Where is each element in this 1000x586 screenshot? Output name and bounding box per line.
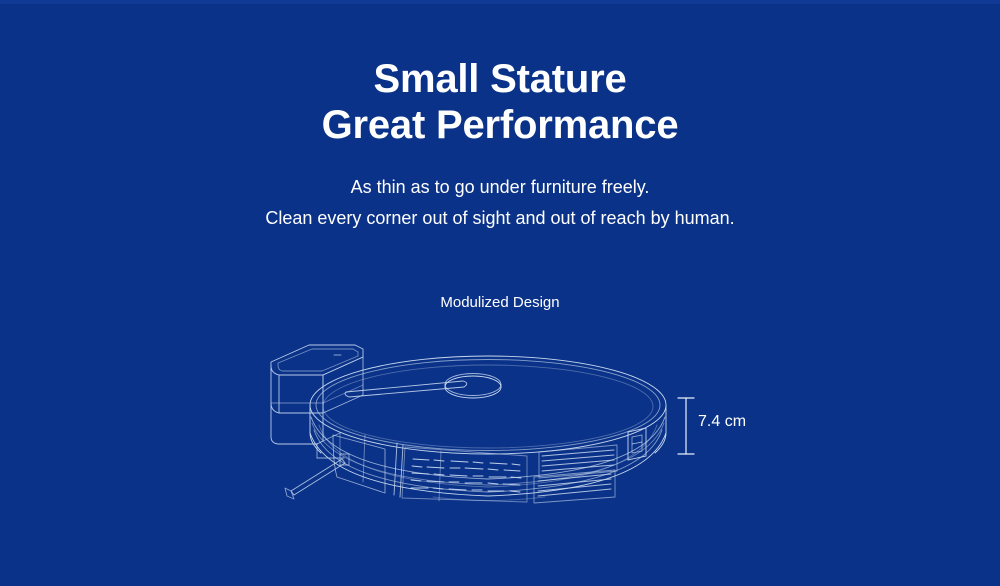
side-louver-vents [534, 445, 617, 503]
lidar-button [445, 374, 501, 399]
subheadline-line-2: Clean every corner out of sight and out … [0, 203, 1000, 234]
top-edge-sheen [0, 0, 1000, 4]
promo-banner: Small Stature Great Performance As thin … [0, 0, 1000, 586]
headline-line-1: Small Stature [0, 56, 1000, 102]
dimension-line-icon [676, 395, 700, 457]
front-vent-grid [402, 447, 527, 502]
subheadline: As thin as to go under furniture freely.… [0, 172, 1000, 234]
robot-vacuum-illustration [245, 325, 715, 535]
headline: Small Stature Great Performance [0, 56, 1000, 148]
dimension-callout: 7.4 cm [676, 395, 796, 461]
section-caption: Modulized Design [0, 293, 1000, 313]
side-brush-arm [285, 454, 349, 499]
dust-bin-module [271, 345, 363, 458]
subheadline-line-1: As thin as to go under furniture freely. [0, 172, 1000, 203]
headline-line-2: Great Performance [0, 102, 1000, 148]
dimension-value-label: 7.4 cm [698, 412, 746, 432]
